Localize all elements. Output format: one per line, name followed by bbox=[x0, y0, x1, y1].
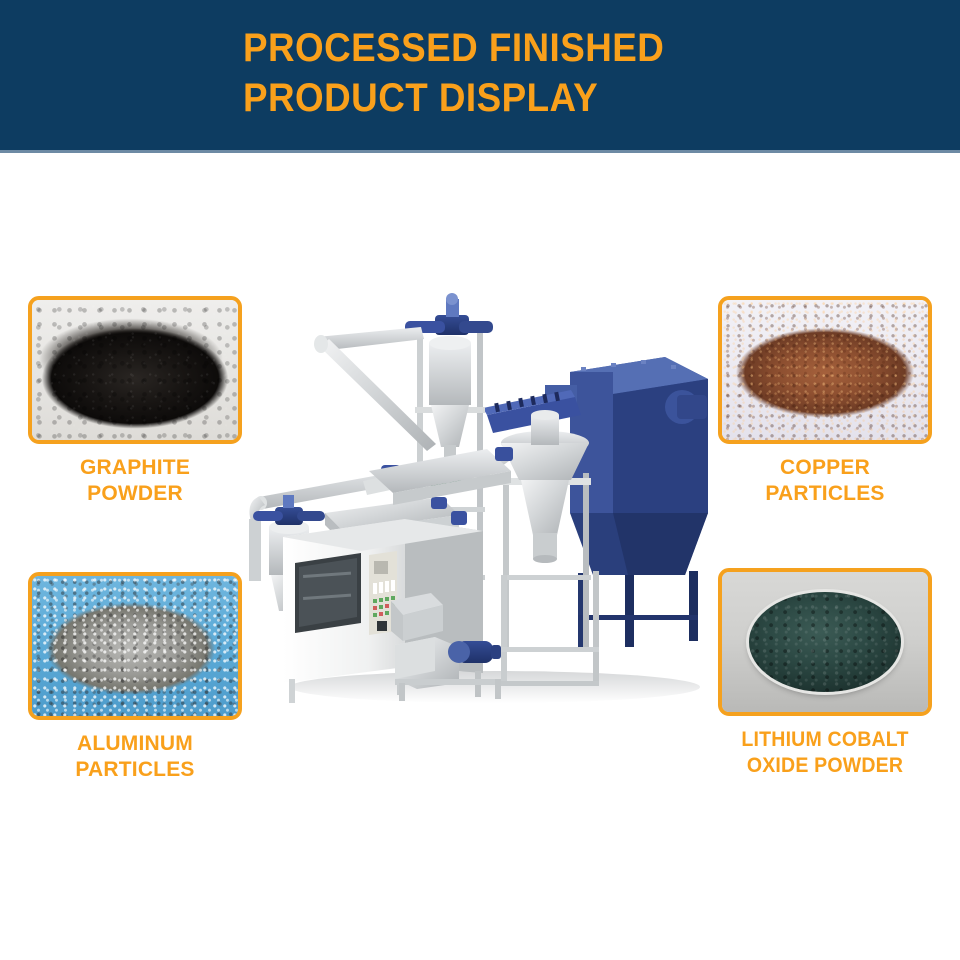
product-label-graphite-powder: GRAPHITE POWDER bbox=[28, 455, 242, 507]
page-title: PROCESSED FINISHED PRODUCT DISPLAY bbox=[243, 23, 832, 123]
product-label-copper-particles: COPPER PARTICLES bbox=[718, 455, 932, 507]
production-line-illustration bbox=[245, 275, 715, 705]
product-label-lithium-cobalt-oxide-powder: LITHIUM COBALT OXIDE POWDER bbox=[725, 727, 924, 779]
powder-disc bbox=[749, 592, 901, 693]
graphite-powder-photo bbox=[32, 300, 238, 440]
product-card-lithium-cobalt-oxide-powder[interactable]: LITHIUM COBALT OXIDE POWDER bbox=[718, 568, 932, 779]
product-image-lithium-cobalt-oxide-powder bbox=[718, 568, 932, 716]
lithium-cobalt-oxide-photo bbox=[722, 572, 928, 712]
product-image-graphite-powder bbox=[28, 296, 242, 444]
product-card-aluminum-particles[interactable]: ALUMINUM PARTICLES bbox=[28, 572, 242, 783]
header-banner: PROCESSED FINISHED PRODUCT DISPLAY bbox=[0, 0, 960, 153]
product-label-aluminum-particles: ALUMINUM PARTICLES bbox=[28, 731, 242, 783]
infographic-page: PROCESSED FINISHED PRODUCT DISPLAY bbox=[0, 0, 960, 960]
product-card-copper-particles[interactable]: COPPER PARTICLES bbox=[718, 296, 932, 507]
product-card-graphite-powder[interactable]: GRAPHITE POWDER bbox=[28, 296, 242, 507]
product-image-aluminum-particles bbox=[28, 572, 242, 720]
aluminum-particles-photo bbox=[32, 576, 238, 716]
copper-particles-photo bbox=[722, 300, 928, 440]
product-image-copper-particles bbox=[718, 296, 932, 444]
cyclone-separator bbox=[475, 410, 591, 651]
